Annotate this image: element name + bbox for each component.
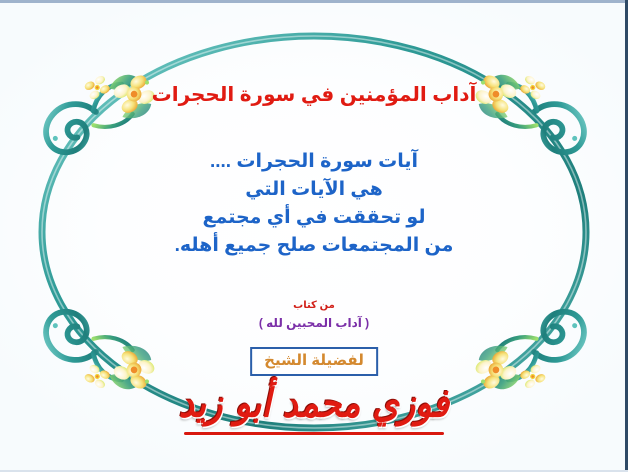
signature: فوزي محمد أبو زيد	[164, 384, 464, 448]
signature-text: فوزي محمد أبو زيد	[164, 381, 464, 427]
body-line-2: هي الآيات التي	[0, 176, 628, 204]
sheikh-label-box: لفضيلة الشيخ	[250, 347, 378, 376]
book-name: ( آداب المحبين لله )	[0, 316, 628, 330]
body-line-4: من المجتمعات صلح جميع أهله.	[0, 232, 628, 260]
body-text-block: آيات سورة الحجرات .... هي الآيات التي لو…	[0, 148, 628, 260]
slide-canvas: آداب المؤمنين في سورة الحجرات آيات سورة …	[0, 0, 628, 472]
signature-underline	[184, 432, 444, 435]
page-title: آداب المؤمنين في سورة الحجرات	[0, 82, 628, 107]
body-line-1: آيات سورة الحجرات ....	[0, 148, 628, 176]
from-book-label: من كتاب	[0, 300, 628, 311]
slide-content: آداب المؤمنين في سورة الحجرات آيات سورة …	[0, 0, 628, 472]
body-line-3: لو تحققت في أي مجتمع	[0, 204, 628, 232]
